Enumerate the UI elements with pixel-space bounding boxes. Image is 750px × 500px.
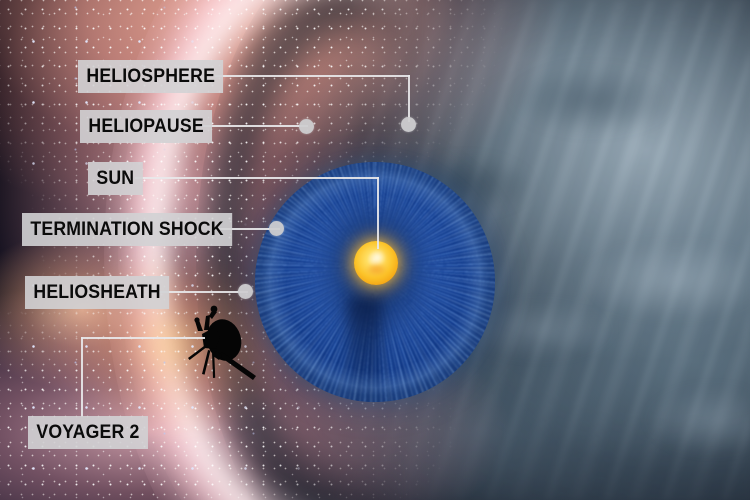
leader-line-heliopause xyxy=(200,125,308,127)
leader-dot-heliosheath xyxy=(238,284,253,299)
leader-dot-heliosphere xyxy=(401,117,416,132)
label-heliosheath[interactable]: HELIOSHEATH xyxy=(25,276,169,309)
label-sun[interactable]: SUN xyxy=(88,162,143,195)
label-voyager-2[interactable]: VOYAGER 2 xyxy=(28,416,148,449)
label-heliopause[interactable]: HELIOPAUSE xyxy=(80,110,212,143)
sun-surface-mottle xyxy=(367,264,385,275)
leader-line-heliosphere-v xyxy=(408,75,410,122)
leader-dot-termination-shock xyxy=(269,221,284,236)
voyager-silhouette-svg xyxy=(182,300,260,384)
sun-hotspot xyxy=(370,250,385,265)
heliosphere-diagram: HELIOSPHERE HELIOPAUSE SUN TERMINATION S… xyxy=(0,0,750,500)
leader-line-heliosphere-h xyxy=(215,75,410,77)
sun-disc xyxy=(354,241,398,285)
leader-line-voyager-h xyxy=(81,337,205,339)
sun-body xyxy=(354,241,398,285)
leader-line-voyager-v xyxy=(81,337,83,417)
leader-line-sun-h xyxy=(135,177,379,179)
leader-line-sun-v xyxy=(377,177,379,249)
label-heliosphere[interactable]: HELIOSPHERE xyxy=(78,60,223,93)
voyager-2-spacecraft-icon xyxy=(182,300,260,384)
label-termination-shock[interactable]: TERMINATION SHOCK xyxy=(22,213,232,246)
leader-dot-heliopause xyxy=(299,119,314,134)
